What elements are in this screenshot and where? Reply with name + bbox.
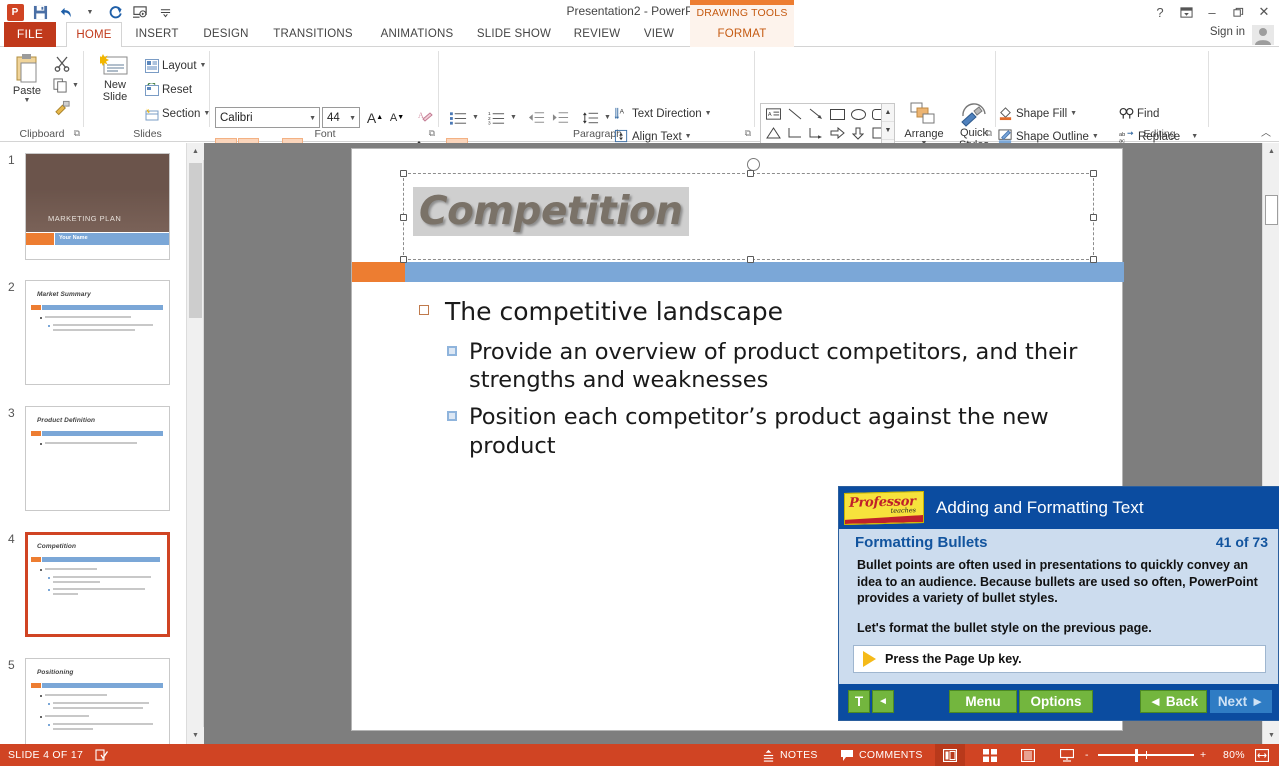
reading-view-button[interactable] bbox=[1013, 744, 1043, 766]
tab-slide-show[interactable]: SLIDE SHOW bbox=[468, 22, 560, 47]
play-triangle-icon bbox=[863, 651, 876, 667]
thumbnail-number: 5 bbox=[8, 658, 15, 672]
resize-handle-nw[interactable] bbox=[400, 170, 407, 177]
font-size-input[interactable]: 44 ▼ bbox=[322, 107, 360, 128]
svg-text:A: A bbox=[767, 112, 771, 118]
tutorial-header: Professor teaches Adding and Formatting … bbox=[839, 487, 1279, 529]
font-name-value: Calibri bbox=[220, 112, 253, 124]
svg-text:ab: ab bbox=[1119, 132, 1125, 138]
tutorial-options-button[interactable]: Options bbox=[1019, 690, 1093, 713]
resize-handle-e[interactable] bbox=[1090, 214, 1097, 221]
section-button[interactable]: Section ▼ bbox=[143, 103, 212, 124]
tab-format[interactable]: FORMAT bbox=[690, 22, 794, 47]
resize-handle-ne[interactable] bbox=[1090, 170, 1097, 177]
comments-label: COMMENTS bbox=[859, 749, 923, 761]
title-bar: P ▼ Presentation2 - PowerPoint ? bbox=[0, 0, 1279, 24]
tab-file[interactable]: FILE bbox=[4, 22, 56, 47]
group-label-clipboard: Clipboard bbox=[0, 128, 84, 140]
tutorial-menu-button[interactable]: Menu bbox=[949, 690, 1017, 713]
professor-teaches-logo-icon: Professor teaches bbox=[844, 491, 924, 525]
layout-label: Layout bbox=[162, 60, 197, 72]
layout-button[interactable]: Layout ▼ bbox=[143, 55, 208, 76]
collapse-ribbon-icon[interactable]: ︿ bbox=[1257, 123, 1275, 139]
svg-text:3: 3 bbox=[488, 120, 491, 124]
down-arrow-shape[interactable] bbox=[848, 124, 868, 142]
ribbon-tab-bar: FILE HOME INSERT DESIGN TRANSITIONS ANIM… bbox=[0, 22, 1279, 47]
bullet-level2[interactable]: Provide an overview of product competito… bbox=[403, 338, 1103, 396]
thumb5-title: Positioning bbox=[37, 669, 74, 676]
spellcheck-icon[interactable] bbox=[95, 744, 109, 766]
numbering-icon[interactable]: 123 bbox=[484, 107, 508, 128]
ribbon: Paste ▼ ▼ Clipboard ⧉ New Slide bbox=[0, 47, 1279, 142]
thumbnail-scrollbar[interactable]: ▲ ▼ bbox=[186, 143, 203, 744]
tab-home[interactable]: HOME bbox=[66, 22, 122, 48]
thumbnail-slide-1[interactable]: MARKETING PLAN Your Name bbox=[25, 153, 170, 260]
clipboard-dialog-launcher[interactable]: ⧉ bbox=[74, 128, 80, 139]
tutorial-next-button[interactable]: Next ► bbox=[1210, 690, 1272, 713]
restore-button[interactable] bbox=[1225, 1, 1251, 23]
right-arrow-shape[interactable] bbox=[827, 124, 847, 142]
tutorial-action-text: Press the Page Up key. bbox=[885, 652, 1022, 666]
help-icon[interactable]: ? bbox=[1147, 1, 1173, 23]
thumbnail-number: 2 bbox=[8, 280, 15, 294]
tab-transitions[interactable]: TRANSITIONS bbox=[263, 22, 363, 47]
decrease-font-size-icon[interactable]: A▼ bbox=[386, 107, 408, 128]
ribbon-group-clipboard: Paste ▼ ▼ Clipboard ⧉ bbox=[0, 47, 84, 141]
line-shape[interactable] bbox=[785, 105, 805, 123]
bullets-caret-icon[interactable]: ▼ bbox=[470, 107, 481, 128]
slide-accent-blue bbox=[405, 262, 1124, 282]
oval-shape[interactable] bbox=[848, 105, 868, 123]
decrease-indent-icon[interactable] bbox=[524, 107, 548, 128]
gallery-scroll-down-icon[interactable]: ▼ bbox=[882, 122, 894, 140]
elbow-arrow-shape[interactable] bbox=[806, 124, 826, 142]
group-label-slides: Slides bbox=[85, 128, 210, 140]
ribbon-group-slides: New Slide Layout ▼ Reset Section ▼ Slide… bbox=[85, 47, 210, 141]
arrange-button[interactable]: Arrange ▼ bbox=[900, 102, 948, 147]
new-slide-label-2: Slide bbox=[103, 91, 127, 103]
rectangle-shape[interactable] bbox=[827, 105, 847, 123]
window-controls: ? – ✕ bbox=[1147, 1, 1277, 23]
tab-review[interactable]: REVIEW bbox=[566, 22, 628, 47]
thumbnail-slide-4[interactable]: Competition bbox=[25, 532, 170, 637]
align-text-label: Align Text bbox=[632, 131, 682, 143]
tutorial-back-button[interactable]: ◄ Back bbox=[1140, 690, 1207, 713]
line-spacing-icon[interactable] bbox=[578, 107, 602, 128]
tab-insert[interactable]: INSERT bbox=[128, 22, 186, 47]
shape-outline-label: Shape Outline bbox=[1016, 131, 1089, 143]
bullets-icon[interactable] bbox=[446, 107, 470, 128]
resize-handle-n[interactable] bbox=[747, 170, 754, 177]
font-name-input[interactable]: Calibri ▼ bbox=[215, 107, 320, 128]
copy-icon[interactable] bbox=[50, 75, 70, 96]
font-size-value: 44 bbox=[327, 112, 340, 124]
thumb4-title: Competition bbox=[37, 543, 76, 550]
ribbon-display-options-icon[interactable] bbox=[1173, 1, 1199, 23]
arrange-label: Arrange bbox=[904, 128, 943, 140]
copy-caret-icon[interactable]: ▼ bbox=[70, 75, 81, 96]
slide-scroll-down-icon[interactable]: ▼ bbox=[1263, 727, 1279, 744]
comments-button[interactable]: COMMENTS bbox=[840, 744, 923, 766]
resize-handle-w[interactable] bbox=[400, 214, 407, 221]
notes-button[interactable]: NOTES bbox=[762, 744, 818, 766]
tutorial-overlay[interactable]: Professor teaches Adding and Formatting … bbox=[838, 486, 1279, 721]
thumb3-title: Product Definition bbox=[37, 417, 95, 424]
find-label: Find bbox=[1137, 108, 1159, 120]
logo-line-2: teaches bbox=[891, 506, 916, 515]
tutorial-hint-text: Let's format the bullet style on the pre… bbox=[857, 621, 1262, 635]
thumbnail-scroll-thumb[interactable] bbox=[189, 163, 202, 318]
minimize-button[interactable]: – bbox=[1199, 1, 1225, 23]
resize-handle-sw[interactable] bbox=[400, 256, 407, 263]
tutorial-subheader: Formatting Bullets 41 of 73 bbox=[839, 529, 1279, 555]
replace-label: Replace bbox=[1138, 131, 1180, 143]
bullet-square-icon bbox=[447, 411, 457, 421]
thumbnail-slide-3[interactable]: Product Definition bbox=[25, 406, 170, 511]
tutorial-text-toggle-button[interactable]: T bbox=[848, 690, 870, 713]
zoom-slider-knob[interactable] bbox=[1135, 749, 1138, 762]
thumb1-title: MARKETING PLAN bbox=[48, 214, 121, 223]
zoom-slider-midpoint bbox=[1146, 751, 1147, 759]
bullet-square-icon bbox=[419, 305, 429, 315]
zoom-level-label: 80% bbox=[1223, 744, 1245, 766]
increase-font-size-icon[interactable]: A▲ bbox=[364, 107, 386, 128]
thumbnail-scroll-down-icon[interactable]: ▼ bbox=[187, 727, 204, 744]
bullet-level1[interactable]: The competitive landscape bbox=[403, 297, 1103, 328]
new-slide-label-1: New bbox=[104, 79, 126, 91]
notes-label: NOTES bbox=[780, 749, 818, 761]
thumb2-title: Market Summary bbox=[37, 291, 91, 298]
shape-fill-button[interactable]: Shape Fill ▼ bbox=[996, 103, 1079, 124]
fit-to-window-icon[interactable] bbox=[1255, 744, 1269, 766]
text-direction-button[interactable]: A Text Direction ▼ bbox=[612, 103, 714, 124]
reset-label: Reset bbox=[162, 84, 192, 96]
tutorial-footer: T ◄ Menu Options ◄ Back Next ► bbox=[839, 684, 1279, 720]
tutorial-header-title: Adding and Formatting Text bbox=[936, 498, 1144, 518]
format-painter-icon[interactable] bbox=[50, 97, 74, 118]
contextual-tab-group-label: DRAWING TOOLS bbox=[690, 5, 794, 22]
tutorial-body-text: Bullet points are often used in presenta… bbox=[857, 557, 1262, 607]
thumbnail-slide-5[interactable]: Positioning bbox=[25, 658, 170, 744]
slideshow-button[interactable] bbox=[1052, 744, 1082, 766]
font-name-caret-icon[interactable]: ▼ bbox=[309, 115, 316, 122]
text-direction-label: Text Direction bbox=[632, 108, 702, 120]
zoom-in-button[interactable]: + bbox=[1200, 744, 1206, 766]
window-title: Presentation2 - PowerPoint bbox=[0, 4, 1279, 18]
resize-handle-se[interactable] bbox=[1090, 256, 1097, 263]
title-placeholder[interactable]: Competition bbox=[403, 173, 1094, 260]
normal-view-button[interactable] bbox=[935, 744, 965, 766]
thumbnail-scroll-up-icon[interactable]: ▲ bbox=[187, 143, 204, 160]
bullet-text: Provide an overview of product competito… bbox=[469, 339, 1077, 394]
gallery-scroll-up-icon[interactable]: ▲ bbox=[882, 104, 894, 122]
svg-text:A: A bbox=[620, 109, 625, 116]
tab-view[interactable]: VIEW bbox=[634, 22, 684, 47]
slide-accent-orange bbox=[352, 262, 405, 282]
new-slide-button[interactable]: New Slide bbox=[91, 53, 139, 103]
thumbnail-slide-2[interactable]: Market Summary bbox=[25, 280, 170, 385]
slide-title-text[interactable]: Competition bbox=[413, 187, 689, 236]
tutorial-prev-button[interactable]: ◄ bbox=[872, 690, 894, 713]
paste-caret-icon[interactable]: ▼ bbox=[24, 97, 31, 104]
increase-indent-icon[interactable] bbox=[548, 107, 572, 128]
slide-counter: SLIDE 4 OF 17 bbox=[8, 744, 83, 766]
numbering-caret-icon[interactable]: ▼ bbox=[508, 107, 519, 128]
tutorial-lesson-title: Formatting Bullets bbox=[855, 534, 988, 551]
thumbnail-number: 3 bbox=[8, 406, 15, 420]
status-bar: SLIDE 4 OF 17 NOTES COMMENTS - + 80% bbox=[0, 744, 1279, 766]
paragraph-dialog-launcher[interactable]: ⧉ bbox=[745, 128, 751, 139]
thumb1-subtitle: Your Name bbox=[59, 235, 88, 241]
sign-in-link[interactable]: Sign in bbox=[1210, 26, 1245, 38]
clear-formatting-icon[interactable]: A bbox=[414, 107, 436, 128]
zoom-out-button[interactable]: - bbox=[1085, 744, 1089, 766]
avatar-icon[interactable] bbox=[1251, 24, 1275, 46]
reset-button[interactable]: Reset bbox=[143, 79, 194, 100]
tutorial-page-counter: 41 of 73 bbox=[1216, 534, 1268, 550]
shape-fill-label: Shape Fill bbox=[1016, 108, 1067, 120]
bullet-text: Position each competitor’s product again… bbox=[469, 404, 1049, 459]
font-size-caret-icon[interactable]: ▼ bbox=[349, 115, 356, 122]
thumbnail-number: 4 bbox=[8, 532, 15, 546]
slide-scroll-up-icon[interactable]: ▲ bbox=[1263, 143, 1279, 160]
tutorial-action-box: Press the Page Up key. bbox=[853, 645, 1266, 673]
elbow-connector-shape[interactable] bbox=[785, 124, 805, 142]
text-box-shape[interactable]: A bbox=[763, 105, 783, 123]
find-button[interactable]: Find bbox=[1117, 103, 1161, 124]
cut-icon[interactable] bbox=[50, 53, 74, 74]
close-button[interactable]: ✕ bbox=[1251, 1, 1277, 23]
quick-styles-label-1: Quick bbox=[960, 127, 988, 139]
arrow-shape[interactable] bbox=[806, 105, 826, 123]
tab-design[interactable]: DESIGN bbox=[196, 22, 256, 47]
bullet-text: The competitive landscape bbox=[445, 297, 783, 326]
bullet-level2[interactable]: Position each competitor’s product again… bbox=[403, 403, 1103, 461]
section-label: Section bbox=[162, 108, 200, 120]
thumbnail-number: 1 bbox=[8, 153, 15, 167]
paste-button[interactable]: Paste ▼ bbox=[4, 53, 50, 104]
resize-handle-s[interactable] bbox=[747, 256, 754, 263]
slide-thumbnail-pane[interactable]: 1 MARKETING PLAN Your Name 2 Market Summ… bbox=[0, 143, 204, 744]
slide-scroll-thumb[interactable] bbox=[1265, 195, 1278, 225]
paste-label: Paste bbox=[13, 85, 41, 97]
bullet-square-icon bbox=[447, 346, 457, 356]
tab-animations[interactable]: ANIMATIONS bbox=[368, 22, 466, 47]
triangle-shape[interactable] bbox=[763, 124, 783, 142]
slide-sorter-button[interactable] bbox=[975, 744, 1005, 766]
